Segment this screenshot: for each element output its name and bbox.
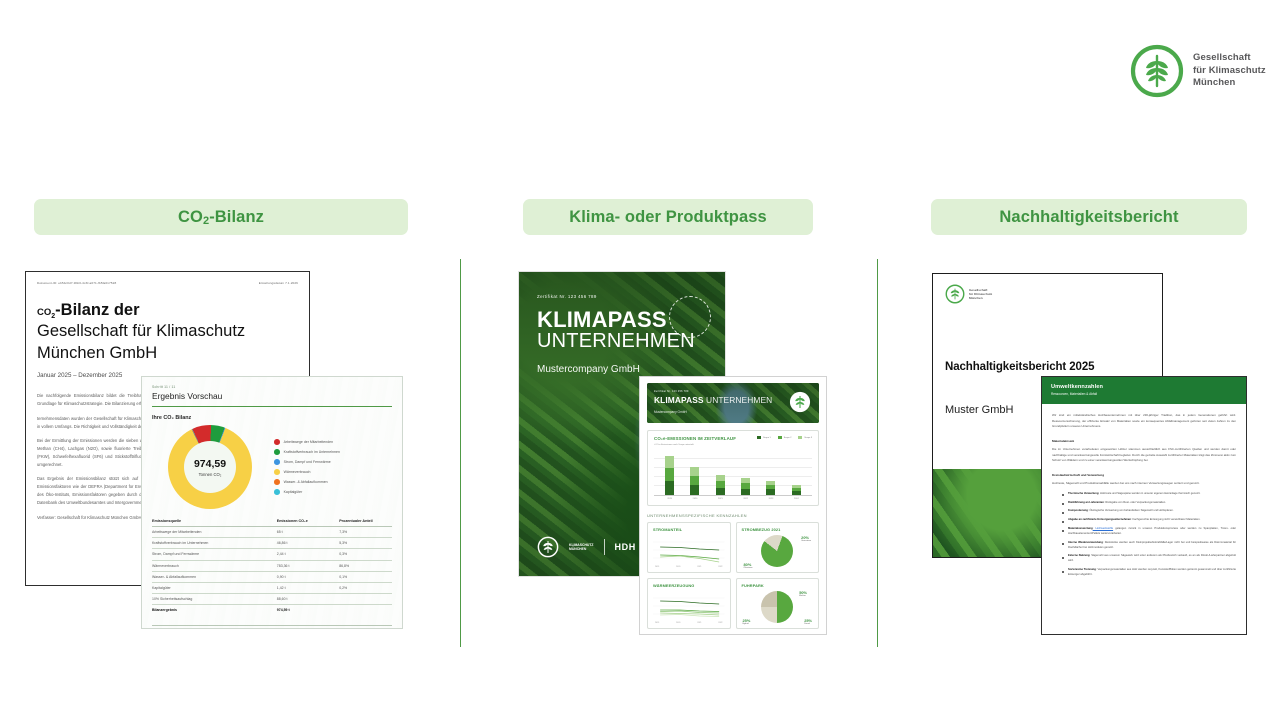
list-item-term: Externe Nutzung bbox=[1068, 554, 1090, 557]
list-item-term: Thermische Verwertung bbox=[1068, 492, 1098, 495]
klimaschutz-emblem-icon bbox=[537, 536, 559, 558]
column-header-klimapass: Klima- oder Produktpass bbox=[523, 199, 813, 235]
list-item-text: Interne Wiederverwendung: Reststücke wer… bbox=[1068, 541, 1236, 550]
legend-label: Scope 3 bbox=[804, 437, 812, 439]
list-item: Interne Wiederverwendung: Reststücke wer… bbox=[1062, 541, 1236, 550]
panel-waermeerzeugung: WÄRMEERZEUGUNG 2019 2020 bbox=[647, 578, 731, 629]
timeline-chart-legend: Scope 1Scope 2Scope 3 bbox=[757, 436, 812, 439]
panel-title: STROMBEZUG 2021 bbox=[742, 527, 814, 532]
table-cell: Wasser- & Abfallaufkommen bbox=[152, 571, 277, 582]
partner-logo-text: HDH bbox=[615, 542, 636, 552]
legend-label: Wärmeverbrauch bbox=[284, 470, 311, 474]
list-item-text: Thermische Verwertung: Holzreste und Säg… bbox=[1068, 492, 1200, 497]
list-item: Sortenreine Trennung: Verpackungsmateria… bbox=[1062, 568, 1236, 577]
pie-shape bbox=[761, 591, 793, 623]
list-item-body: : Fachgerechte Entsorgung nicht verwertb… bbox=[1131, 518, 1200, 521]
table-cell: 0,90 t bbox=[277, 571, 339, 582]
title-line-1: -Bilanz der bbox=[55, 301, 139, 319]
brand-logo-text: Gesellschaft für Klimaschutz München bbox=[1193, 52, 1266, 90]
x-label: 2019 bbox=[655, 622, 659, 624]
list-item: Abgabe an zertifizierte Entsorgungsunter… bbox=[1062, 518, 1236, 523]
chart-subheading: Ihre CO₂ Bilanz bbox=[152, 415, 392, 421]
waermeerzeugung-line-chart bbox=[653, 592, 725, 622]
legend-label: Kapitalgüter bbox=[284, 490, 303, 494]
table-cell: 0,1% bbox=[339, 571, 392, 582]
bar bbox=[741, 478, 750, 495]
legend-color-dot bbox=[274, 449, 280, 455]
table-cell: 86,8% bbox=[339, 560, 392, 571]
list-item-term: Kompostierung bbox=[1068, 509, 1088, 512]
verwertung-bullet-list: Thermische Verwertung: Holzreste und Säg… bbox=[1062, 492, 1236, 578]
section-heading-materialeinsatz: Materialeinsatz bbox=[1052, 439, 1236, 443]
list-item-body: : Rückgabe von Rest- oder Verpackungsmat… bbox=[1104, 501, 1166, 504]
list-item-term: Sortenreine Trennung bbox=[1068, 568, 1096, 571]
klimaschutz-tree-logo-icon bbox=[945, 284, 965, 304]
column-divider-1 bbox=[460, 259, 461, 647]
table-cell: 10% Sicherheitsaufschlag bbox=[152, 594, 277, 605]
co2-document-meta: Dokument-ID: eb54c0d7-9bb0-4c3f-a071-fb5… bbox=[37, 281, 298, 285]
panel-fuhrpark: FUHRPARK 50% Elektro 25% Hybrid 25% Dies… bbox=[736, 578, 820, 629]
list-item-term: Materialverwertung bbox=[1068, 527, 1093, 530]
legend-item: Scope 1 bbox=[757, 436, 771, 439]
column-divider-2 bbox=[877, 259, 878, 647]
pie-label: Diesel bbox=[804, 623, 810, 625]
table-cell: 5,3% bbox=[339, 538, 392, 549]
table-cell: 46,86 t bbox=[277, 538, 339, 549]
table-cell: 0,2% bbox=[339, 582, 392, 593]
table-cell: Kraftstoffverbrauch im Unternehmen bbox=[152, 538, 277, 549]
panel-strombezug: STROMBEZUG 2021 20% Graustrom 80% Ökostr… bbox=[736, 522, 820, 573]
table-cell bbox=[339, 594, 392, 605]
document-date: Erstellungsdatum 7.1.2026 bbox=[259, 281, 298, 285]
climate-contribution-footer: Notwendige CO₂e-Menge für Ihren Klimasch… bbox=[152, 625, 392, 630]
x-label: 2022 bbox=[718, 622, 722, 624]
emblem-line-2: MÜNCHEN bbox=[569, 547, 594, 551]
bar bbox=[766, 481, 775, 495]
bullet-dot bbox=[1062, 571, 1064, 573]
section-text: Die im Unternehmen verarbeiteten eingese… bbox=[1052, 447, 1236, 464]
column-header-source: Emissionsquelle bbox=[152, 519, 277, 527]
x-label: 2022 bbox=[741, 498, 750, 500]
legend-item: Wasser- & Abfallaufkommen bbox=[274, 479, 340, 485]
table-row: 10% Sicherheitsaufschlag88,60 t bbox=[152, 594, 392, 605]
table-row: Arbeitswege der Mitarbeitenden65 t7,3% bbox=[152, 527, 392, 538]
list-item-text: Sortenreine Trennung: Verpackungsmateria… bbox=[1068, 568, 1236, 577]
legend-swatch bbox=[798, 436, 802, 439]
brand-line-1: Gesellschaft bbox=[1193, 52, 1266, 65]
list-item: Kompostierung: Ökologische Verwertung vo… bbox=[1062, 509, 1236, 514]
donut-chart-legend: Arbeitswege der MitarbeitendenKraftstoff… bbox=[274, 439, 340, 495]
klimaschutz-tree-logo-icon bbox=[1130, 44, 1184, 98]
bullet-dot bbox=[1062, 503, 1064, 505]
band-subtitle: Ressourcen, Materialien & Abfall bbox=[1051, 392, 1237, 396]
legend-swatch bbox=[757, 436, 761, 439]
table-cell: Arbeitswege der Mitarbeitenden bbox=[152, 527, 277, 538]
wizard-step-indicator: Schritt 11 / 11 bbox=[152, 385, 392, 389]
column-header-percent: Prozentualer Anteil bbox=[339, 519, 392, 527]
table-row: Wasser- & Abfallaufkommen0,90 t0,1% bbox=[152, 571, 392, 582]
report-title: Nachhaltigkeitsbericht 2025 bbox=[945, 361, 1150, 373]
document-id: Dokument-ID: eb54c0d7-9bb0-4c3f-a071-fb5… bbox=[37, 281, 116, 285]
list-item-body: : Holzreste und Sägespäne werden in unse… bbox=[1098, 492, 1200, 495]
pie-label-elektro: 50% Elektro bbox=[799, 590, 807, 597]
legend-color-dot bbox=[274, 459, 280, 465]
title-line-3: München GmbH bbox=[37, 343, 298, 364]
table-header-row: Emissionsquelle Emissionen CO₂e Prozentu… bbox=[152, 519, 392, 527]
cover-logo: Gesellschaft für Klimaschutz München bbox=[945, 284, 1150, 304]
table-cell: Wärmeverbrauch bbox=[152, 560, 277, 571]
list-item: Thermische Verwertung: Holzreste und Säg… bbox=[1062, 492, 1236, 497]
table-row: Wärmeverbrauch783,36 t86,8% bbox=[152, 560, 392, 571]
table-cell: 65 t bbox=[277, 527, 339, 538]
klimapass-cover-preview: Zertifikat Nr. 123 456 789 KLIMAPASS UNT… bbox=[519, 272, 725, 576]
legend-item: Wärmeverbrauch bbox=[274, 469, 340, 475]
x-label: 2020 bbox=[676, 622, 680, 624]
pie-label: Graustrom bbox=[801, 540, 811, 542]
legend-color-dot bbox=[274, 439, 280, 445]
legend-item: Scope 3 bbox=[798, 436, 812, 439]
section-band: Umweltkennzahlen Ressourcen, Materialien… bbox=[1042, 377, 1246, 404]
list-item-text: Abgabe an zertifizierte Entsorgungsunter… bbox=[1068, 518, 1200, 523]
panel-title: WÄRMEERZEUGUNG bbox=[653, 583, 725, 588]
heading-rule bbox=[152, 406, 392, 407]
table-cell: Bilanzergebnis bbox=[152, 605, 277, 616]
table-cell: 974,59 t bbox=[277, 605, 339, 616]
legend-label: Strom, Dampf und Fernwärme bbox=[284, 460, 331, 464]
donut-chart-row: 974,59 Tonnen CO₂ Arbeitswege der Mitarb… bbox=[152, 425, 392, 509]
donut-total-value: 974,59 bbox=[194, 458, 226, 470]
list-item-body: : Ökologische Verwertung von behandeltem… bbox=[1088, 509, 1174, 512]
list-item-text: Materialverwertung: Holzwerkstoffe gelan… bbox=[1068, 527, 1236, 536]
pie-shape bbox=[761, 535, 793, 567]
table-cell: Kapitalgüter bbox=[152, 582, 277, 593]
pie-label-graustrom: 80% Ökostrom bbox=[744, 562, 753, 569]
table-row: Strom, Dampf und Fernwärme2,44 t0,3% bbox=[152, 549, 392, 560]
bullet-dot bbox=[1062, 512, 1064, 514]
bar-segment bbox=[766, 489, 775, 495]
ergebnis-vorschau-card: Schritt 11 / 11 Ergebnis Vorschau Ihre C… bbox=[141, 376, 403, 629]
brand-line-2: für Klimaschutz bbox=[1193, 65, 1266, 78]
list-item: Materialverwertung: Holzwerkstoffe gelan… bbox=[1062, 527, 1236, 536]
x-label: 2021 bbox=[697, 622, 701, 624]
table-cell: 2,44 t bbox=[277, 549, 339, 560]
page-body: Wir sind ein mittelständisches Holzbauun… bbox=[1042, 404, 1246, 591]
column-header-label: Klima- oder Produktpass bbox=[569, 208, 767, 227]
umweltkennzahlen-page-preview: Umweltkennzahlen Ressourcen, Materialien… bbox=[1041, 376, 1247, 635]
section-heading-kreislaufwirtschaft: Kreislaufwirtschaft und Verwertung bbox=[1052, 473, 1236, 477]
legend-item: Arbeitswege der Mitarbeitenden bbox=[274, 439, 340, 445]
donut-center-label: 974,59 Tonnen CO₂ bbox=[168, 425, 252, 509]
co2-document-title: CO2-Bilanz der Gesellschaft für Klimasch… bbox=[37, 300, 298, 364]
pie-label-hybrid: 25% Hybrid bbox=[743, 618, 751, 625]
bar-segment bbox=[741, 489, 750, 495]
bullet-dot bbox=[1062, 557, 1064, 559]
band-title: Umweltkennzahlen bbox=[1051, 384, 1237, 390]
certification-stamp-icon bbox=[669, 296, 711, 338]
legend-item: Scope 2 bbox=[778, 436, 792, 439]
banner-tree-badge-icon bbox=[789, 391, 811, 413]
bullet-dot bbox=[1062, 494, 1064, 496]
list-item-term: Rückführung an Lieferanten bbox=[1068, 501, 1104, 504]
legend-item: Strom, Dampf und Fernwärme bbox=[274, 459, 340, 465]
cover-company-name: Mustercompany GmbH bbox=[537, 364, 707, 375]
panel-x-labels: 2019 2020 2021 2022 bbox=[653, 622, 725, 624]
table-cell: 783,36 t bbox=[277, 560, 339, 571]
bullet-dot bbox=[1062, 530, 1064, 532]
emblem-caption: KLIMASCHUTZ MÜNCHEN bbox=[569, 543, 594, 552]
legend-label: Wasser- & Abfallaufkommen bbox=[284, 480, 328, 484]
list-item-body: : Sägemehl aus unserem Sägewerk wird unt… bbox=[1068, 554, 1236, 562]
list-item-term: Abgabe an zertifizierte Entsorgungsunter… bbox=[1068, 518, 1131, 521]
x-label: 2024 bbox=[792, 498, 801, 500]
klimapass-cover-content: Zertifikat Nr. 123 456 789 KLIMAPASS UNT… bbox=[519, 272, 725, 576]
list-item-text: Kompostierung: Ökologische Verwertung vo… bbox=[1068, 509, 1174, 514]
pie-label-diesel: 25% Diesel bbox=[804, 618, 812, 625]
table-cell: 7,3% bbox=[339, 527, 392, 538]
pie-label: Ökostrom bbox=[744, 567, 753, 569]
list-item-text: Externe Nutzung: Sägemehl aus unserem Sä… bbox=[1068, 554, 1236, 563]
cover-logo-text: Gesellschaft für Klimaschutz München bbox=[969, 288, 992, 300]
list-item-text: Rückführung an Lieferanten: Rückgabe von… bbox=[1068, 501, 1166, 506]
legend-label: Scope 1 bbox=[763, 437, 771, 439]
intro-paragraph: Wir sind ein mittelständisches Holzbauun… bbox=[1052, 413, 1236, 430]
logo-separator bbox=[604, 539, 605, 555]
column-header-nachhaltigkeitsbericht: Nachhaltigkeitsbericht bbox=[931, 199, 1247, 235]
legend-label: Kraftstoffverbrauch im Unternehmen bbox=[284, 450, 340, 454]
legend-label: Scope 2 bbox=[784, 437, 792, 439]
pie-label: Hybrid bbox=[743, 623, 749, 625]
table-cell: Strom, Dampf und Fernwärme bbox=[152, 549, 277, 560]
bullet-dot bbox=[1062, 543, 1064, 545]
donut-total-unit: Tonnen CO₂ bbox=[199, 472, 222, 477]
brand-line-3: München bbox=[1193, 77, 1266, 90]
list-item: Externe Nutzung: Sägemehl aus unserem Sä… bbox=[1062, 554, 1236, 563]
legend-color-dot bbox=[274, 469, 280, 475]
strombezug-pie-chart: 20% Graustrom 80% Ökostrom bbox=[742, 535, 814, 567]
table-cell bbox=[339, 605, 392, 616]
table-cell: 0,3% bbox=[339, 549, 392, 560]
emissions-donut-chart: 974,59 Tonnen CO₂ bbox=[168, 425, 252, 509]
bar bbox=[792, 485, 801, 495]
bullet-dot bbox=[1062, 521, 1064, 523]
pie-label: Elektro bbox=[799, 595, 805, 597]
emissions-table: Emissionsquelle Emissionen CO₂e Prozentu… bbox=[152, 519, 392, 616]
brand-line-3: München bbox=[969, 296, 992, 300]
legend-swatch bbox=[778, 436, 782, 439]
legend-item: Kapitalgüter bbox=[274, 489, 340, 495]
legend-item: Kraftstoffverbrauch im Unternehmen bbox=[274, 449, 340, 455]
list-item-term: Interne Wiederverwendung bbox=[1068, 541, 1103, 544]
fuhrpark-pie-chart: 50% Elektro 25% Hybrid 25% Diesel bbox=[742, 591, 814, 623]
column-header-label: Nachhaltigkeitsbericht bbox=[999, 208, 1178, 227]
table-cell: 1,42 t bbox=[277, 582, 339, 593]
legend-color-dot bbox=[274, 489, 280, 495]
table-cell: 88,60 t bbox=[277, 594, 339, 605]
column-header-co2-bilanz: CO2-Bilanz bbox=[34, 199, 408, 235]
slide-root: Gesellschaft für Klimaschutz München CO2… bbox=[0, 0, 1280, 720]
legend-label: Arbeitswege der Mitarbeitenden bbox=[284, 440, 333, 444]
brand-logo: Gesellschaft für Klimaschutz München bbox=[1130, 44, 1266, 98]
legend-color-dot bbox=[274, 479, 280, 485]
bar-segment bbox=[792, 491, 801, 495]
column-header-emissions: Emissionen CO₂e bbox=[277, 519, 339, 527]
card-heading: Ergebnis Vorschau bbox=[152, 391, 392, 401]
list-item: Rückführung an Lieferanten: Rückgabe von… bbox=[1062, 501, 1236, 506]
panel-title: FUHRPARK bbox=[742, 583, 814, 588]
section-text: Holzreste, Sägemehl und Produktionsabfäl… bbox=[1052, 481, 1236, 487]
pie-label-oekostrom: 20% Graustrom bbox=[801, 535, 811, 542]
table-total-row: Bilanzergebnis974,59 t bbox=[152, 605, 392, 616]
x-label: 2023 bbox=[766, 498, 775, 500]
title-line-2: Gesellschaft für Klimaschutz bbox=[37, 321, 298, 342]
inline-link[interactable]: : Holzwerkstoffe bbox=[1093, 527, 1113, 530]
cover-footer-logos: KLIMASCHUTZ MÜNCHEN HDH bbox=[537, 536, 636, 558]
table-row: Kraftstoffverbrauch im Unternehmen46,86 … bbox=[152, 538, 392, 549]
table-row: Kapitalgüter1,42 t0,2% bbox=[152, 582, 392, 593]
column-header-label: CO2-Bilanz bbox=[178, 208, 264, 227]
